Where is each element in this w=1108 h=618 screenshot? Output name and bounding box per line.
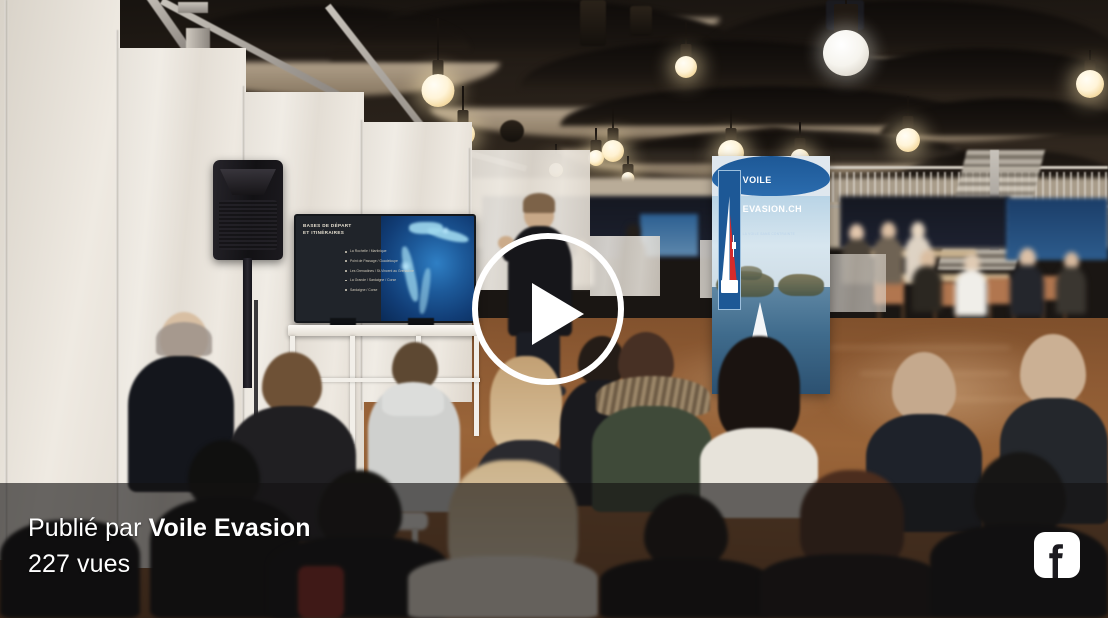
banner-brand-line1: VOILE	[743, 175, 772, 185]
slide-bullet: La Grande / Sardaigne / Corse	[345, 278, 469, 283]
background-seated-person	[1010, 248, 1044, 316]
slide-bullet: La Rochelle / Martinique	[345, 249, 469, 254]
slide-title: BASES DE DÉPART ET ITINÉRAIRES	[303, 223, 468, 236]
banner-brand-line2: EVASION.CH	[743, 204, 802, 214]
play-button[interactable]	[472, 233, 624, 385]
background-seated-person	[1056, 252, 1086, 314]
sailboat-swiss-flag-logo	[718, 170, 741, 310]
play-triangle-icon	[532, 283, 584, 345]
background-seated-person	[912, 250, 942, 312]
swiss-cross-horizontal	[732, 242, 735, 249]
white-table-top	[288, 325, 480, 336]
audience-hair	[156, 322, 212, 356]
speaker-horn	[220, 169, 276, 195]
ceiling-duct	[630, 6, 652, 36]
view-count: 227 vues	[28, 546, 311, 582]
logo-hull	[721, 280, 739, 292]
slide-bullet: Sardaigne / Corse	[345, 288, 469, 293]
exhibition-panel-wall	[826, 254, 886, 312]
panel-seam	[5, 0, 8, 560]
banner-tagline: LA VOILE SANS CONTRAINTE	[743, 232, 795, 236]
pa-speaker	[213, 160, 283, 260]
facebook-video-player[interactable]: BASES DE DÉPART ET ITINÉRAIRES La Rochel…	[0, 0, 1108, 618]
slide-bullet: Point de Passage / Guadeloupe	[345, 259, 469, 264]
floor-streak	[830, 346, 1010, 349]
ceiling-truss	[178, 2, 208, 13]
facebook-icon[interactable]	[1034, 532, 1080, 578]
presentation-television: BASES DE DÉPART ET ITINÉRAIRES La Rochel…	[294, 214, 476, 323]
page-name[interactable]: Voile Evasion	[149, 514, 311, 542]
audience-head-bald	[1020, 334, 1086, 406]
slide-bullet: Les Grenadines / St-Vincent au Grenadine	[345, 269, 469, 274]
audience-head	[262, 352, 322, 414]
exhibition-panel-wall	[0, 0, 120, 560]
banner-rock	[778, 274, 824, 296]
published-by-prefix: Publié par	[28, 514, 149, 542]
slide-bullet-list: La Rochelle / Martinique Point de Passag…	[305, 249, 469, 297]
ceiling-duct	[580, 0, 606, 46]
presenter-hair	[523, 193, 555, 213]
audience-hair-dark	[718, 336, 800, 440]
ceiling-duct	[500, 120, 524, 142]
background-seated-person	[955, 254, 987, 316]
audience-head-bald	[892, 352, 956, 422]
video-info-overlay: Publié par Voile Evasion 227 vues	[0, 483, 1108, 618]
logo-jib-sail	[722, 196, 730, 282]
published-by-line: Publié par Voile Evasion	[28, 510, 311, 546]
video-meta-block: Publié par Voile Evasion 227 vues	[28, 510, 311, 582]
hoodie-hood	[382, 382, 444, 416]
speaker-grille	[219, 200, 278, 250]
